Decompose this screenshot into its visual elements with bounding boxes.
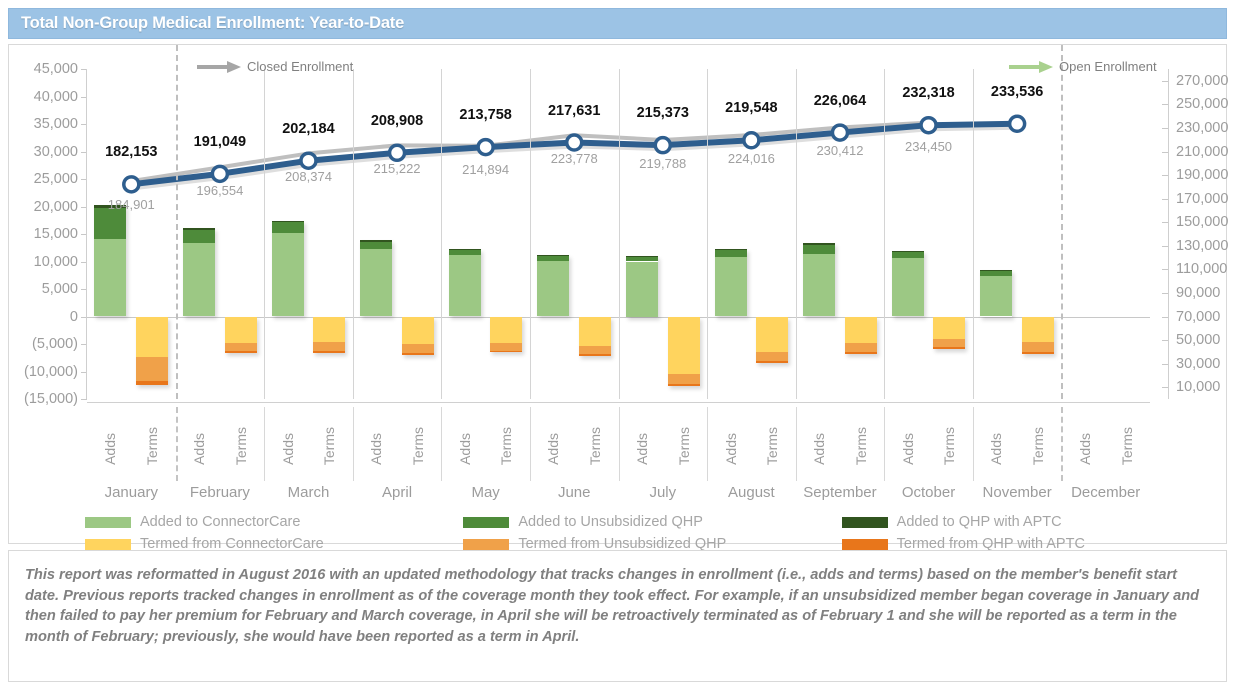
report-date-value-label: 219,548 xyxy=(725,100,777,116)
legend-color-swatch xyxy=(842,539,888,550)
legend-color-swatch xyxy=(842,517,888,528)
terms-bar-segment xyxy=(756,317,788,352)
terms-bar-segment xyxy=(579,354,611,356)
terms-bar-segment xyxy=(1022,317,1054,343)
adds-bar-segment xyxy=(183,243,215,316)
adds-bar[interactable] xyxy=(360,240,392,316)
x-axis-month-label: July xyxy=(649,484,676,501)
report-date-value-label: 208,908 xyxy=(371,113,423,129)
adds-bar-segment xyxy=(715,257,747,317)
adds-bar-segment xyxy=(94,208,126,239)
terms-bar-segment xyxy=(136,317,168,358)
x-axis-month-divider xyxy=(619,407,620,481)
x-axis-terms-label: Terms xyxy=(321,427,337,465)
adds-bar[interactable] xyxy=(537,255,569,317)
terms-bar-segment xyxy=(490,351,522,353)
y-axis-left-line xyxy=(86,69,87,399)
arrow-right-icon xyxy=(1009,61,1053,73)
chart-panel: 45,00040,00035,00030,00025,00020,00015,0… xyxy=(8,44,1227,544)
y-axis-left-tick: (15,000) xyxy=(24,391,87,407)
x-axis-period-divider xyxy=(1061,407,1063,481)
report-date-value-label: 217,631 xyxy=(548,103,600,119)
x-axis-adds-label: Adds xyxy=(988,433,1004,465)
adds-bar[interactable] xyxy=(980,270,1012,317)
legend-item[interactable]: Added to Unsubsidized QHP xyxy=(463,514,841,530)
terms-bar-segment xyxy=(845,343,877,352)
y-axis-left-tick: 15,000 xyxy=(34,226,87,242)
x-axis-month-divider xyxy=(353,407,354,481)
x-axis-month-divider xyxy=(530,407,531,481)
terms-bar-segment xyxy=(668,384,700,386)
x-axis-terms-label: Terms xyxy=(941,427,957,465)
y-axis-left-tick: 25,000 xyxy=(34,171,87,187)
x-axis-month-divider xyxy=(264,407,265,481)
month-divider xyxy=(884,69,885,399)
terms-bar-segment xyxy=(668,374,700,383)
report-date-marker[interactable] xyxy=(478,140,493,155)
methodology-note-box: This report was reformatted in August 20… xyxy=(8,550,1227,682)
x-axis-adds-label: Adds xyxy=(634,433,650,465)
x-axis-period-divider xyxy=(176,407,178,481)
month-divider xyxy=(619,69,620,399)
terms-bar[interactable] xyxy=(668,317,700,386)
legend-item[interactable]: Added to ConnectorCare xyxy=(85,514,463,530)
terms-bar[interactable] xyxy=(579,317,611,356)
y-axis-right-tick: 50,000 xyxy=(1150,332,1220,348)
x-axis-adds-label: Adds xyxy=(280,433,296,465)
adds-bar-segment xyxy=(272,233,304,316)
enrollment-period-divider xyxy=(176,45,178,399)
terms-bar-segment xyxy=(490,317,522,343)
adds-bar-segment xyxy=(449,255,481,316)
plot-area: 45,00040,00035,00030,00025,00020,00015,0… xyxy=(87,69,1150,399)
adds-bar-segment xyxy=(626,262,658,317)
x-axis-month-divider xyxy=(707,407,708,481)
adds-bar[interactable] xyxy=(715,249,747,317)
report-date-marker[interactable] xyxy=(124,177,139,192)
initial-report-value-label: 223,778 xyxy=(551,151,598,166)
report-date-value-label: 233,536 xyxy=(991,84,1043,100)
month-divider xyxy=(707,69,708,399)
adds-bar-segment xyxy=(537,261,569,317)
x-axis-terms-label: Terms xyxy=(587,427,603,465)
y-axis-left-tick: 30,000 xyxy=(34,144,87,160)
terms-bar-segment xyxy=(579,317,611,346)
x-axis-month-label: March xyxy=(288,484,330,501)
legend-item-label: Added to Unsubsidized QHP xyxy=(518,514,703,530)
month-divider xyxy=(264,69,265,399)
adds-bar[interactable] xyxy=(892,251,924,317)
y-axis-left-tick: 45,000 xyxy=(34,61,87,77)
page-title: Total Non-Group Medical Enrollment: Year… xyxy=(9,14,404,33)
adds-bar-segment xyxy=(183,230,215,244)
y-axis-right-tick: 30,000 xyxy=(1150,356,1220,372)
x-axis-month-label: May xyxy=(471,484,499,501)
legend-color-swatch xyxy=(463,539,509,550)
month-divider xyxy=(353,69,354,399)
x-axis-month-label: December xyxy=(1071,484,1140,501)
methodology-note-text: This report was reformatted in August 20… xyxy=(25,565,1210,648)
x-axis-adds-label: Adds xyxy=(102,433,118,465)
report-date-value-label: 232,318 xyxy=(902,85,954,101)
terms-bar-segment xyxy=(579,346,611,354)
terms-bar[interactable] xyxy=(933,317,965,349)
x-axis-month-label: June xyxy=(558,484,591,501)
x-axis-line xyxy=(87,402,1150,403)
terms-bar-segment xyxy=(756,361,788,363)
report-date-marker[interactable] xyxy=(301,153,316,168)
report-date-marker[interactable] xyxy=(567,135,582,150)
y-axis-right-line xyxy=(1168,69,1169,399)
report-date-marker[interactable] xyxy=(921,118,936,133)
x-axis-terms-label: Terms xyxy=(764,427,780,465)
x-axis-adds-label: Adds xyxy=(457,433,473,465)
terms-bar[interactable] xyxy=(490,317,522,353)
initial-report-value-label: 219,788 xyxy=(639,156,686,171)
report-date-value-label: 182,153 xyxy=(105,144,157,160)
adds-bar-segment xyxy=(360,242,392,249)
terms-bar-segment xyxy=(225,351,257,353)
x-axis-month-label: August xyxy=(728,484,775,501)
terms-bar-segment xyxy=(756,352,788,361)
x-axis-month-label: September xyxy=(803,484,876,501)
terms-bar-segment xyxy=(933,339,965,347)
y-axis-left-tick: 35,000 xyxy=(34,116,87,132)
adds-bar-segment xyxy=(715,250,747,257)
terms-bar-segment xyxy=(490,343,522,351)
y-axis-right-tick: 90,000 xyxy=(1150,285,1220,301)
terms-bar[interactable] xyxy=(402,317,434,355)
x-axis-month-label: October xyxy=(902,484,955,501)
terms-bar-segment xyxy=(1022,352,1054,354)
adds-bar[interactable] xyxy=(94,205,126,317)
adds-bar-segment xyxy=(272,222,304,233)
terms-bar-segment xyxy=(136,357,168,381)
closed-enrollment-label: Closed Enrollment xyxy=(247,59,353,74)
x-axis-adds-label: Adds xyxy=(723,433,739,465)
adds-bar-segment xyxy=(980,276,1012,317)
initial-report-value-label: 230,412 xyxy=(816,143,863,158)
report-date-marker[interactable] xyxy=(1010,116,1025,131)
report-date-value-label: 191,049 xyxy=(194,134,246,150)
adds-bar[interactable] xyxy=(449,249,481,316)
x-axis-month-label: February xyxy=(190,484,250,501)
terms-bar[interactable] xyxy=(313,317,345,354)
month-divider xyxy=(973,69,974,399)
x-axis-adds-label: Adds xyxy=(811,433,827,465)
adds-bar[interactable] xyxy=(272,221,304,317)
x-axis-adds-label: Adds xyxy=(900,433,916,465)
x-axis-month-divider xyxy=(973,407,974,481)
enrollment-period-divider xyxy=(1061,45,1063,399)
x-axis-terms-label: Terms xyxy=(1119,427,1135,465)
initial-report-value-label: 224,016 xyxy=(728,151,775,166)
month-divider xyxy=(796,69,797,399)
x-axis-month-divider xyxy=(796,407,797,481)
y-axis-left-tick: (5,000) xyxy=(32,336,87,352)
initial-report-value-label: 184,901 xyxy=(108,197,155,212)
month-divider xyxy=(441,69,442,399)
adds-bar-segment xyxy=(803,254,835,316)
terms-bar-segment xyxy=(402,353,434,355)
terms-bar-segment xyxy=(313,342,345,351)
x-axis-terms-label: Terms xyxy=(853,427,869,465)
legend-item-label: Added to QHP with APTC xyxy=(897,514,1062,530)
x-axis-month-divider xyxy=(441,407,442,481)
adds-bar[interactable] xyxy=(803,243,835,316)
x-axis: AddsTermsJanuaryAddsTermsFebruaryAddsTer… xyxy=(87,403,1150,503)
adds-bar[interactable] xyxy=(626,256,658,317)
report-page: Total Non-Group Medical Enrollment: Year… xyxy=(0,0,1235,690)
terms-bar[interactable] xyxy=(756,317,788,363)
terms-bar[interactable] xyxy=(225,317,257,353)
y-axis-right-tick: 70,000 xyxy=(1150,309,1220,325)
closed-enrollment-annotation: Closed Enrollment xyxy=(197,59,353,74)
y-axis-right-tick: 10,000 xyxy=(1150,379,1220,395)
y-axis-left-tick: 40,000 xyxy=(34,89,87,105)
x-axis-terms-label: Terms xyxy=(410,427,426,465)
x-axis-adds-label: Adds xyxy=(545,433,561,465)
report-date-value-label: 213,758 xyxy=(459,107,511,123)
report-date-marker[interactable] xyxy=(390,145,405,160)
initial-report-value-label: 215,222 xyxy=(374,161,421,176)
terms-bar-segment xyxy=(402,344,434,353)
adds-bar-segment xyxy=(892,258,924,317)
terms-bar-segment xyxy=(668,317,700,375)
open-enrollment-annotation: Open Enrollment xyxy=(1009,59,1157,74)
adds-bar-segment xyxy=(94,239,126,316)
x-axis-terms-label: Terms xyxy=(498,427,514,465)
x-axis-month-label: April xyxy=(382,484,412,501)
terms-bar-segment xyxy=(225,343,257,351)
x-axis-month-label: November xyxy=(983,484,1052,501)
adds-bar-segment xyxy=(360,249,392,317)
report-date-value-label: 215,373 xyxy=(637,105,689,121)
terms-bar-segment xyxy=(933,347,965,349)
legend-item-label: Added to ConnectorCare xyxy=(140,514,300,530)
y-axis-left-tick: 20,000 xyxy=(34,199,87,215)
x-axis-month-divider xyxy=(884,407,885,481)
initial-report-value-label: 208,374 xyxy=(285,169,332,184)
arrow-right-icon xyxy=(197,61,241,73)
terms-bar-segment xyxy=(313,317,345,343)
y-axis-left-tick: 10,000 xyxy=(34,254,87,270)
x-axis-terms-label: Terms xyxy=(676,427,692,465)
terms-bar-segment xyxy=(845,317,877,344)
initial-report-value-label: 214,894 xyxy=(462,162,509,177)
month-divider xyxy=(530,69,531,399)
x-axis-adds-label: Adds xyxy=(1077,433,1093,465)
initial-report-value-label: 234,450 xyxy=(905,139,952,154)
x-axis-terms-label: Terms xyxy=(144,427,160,465)
adds-bar-segment xyxy=(803,245,835,254)
y-axis-left-tickmark xyxy=(81,399,87,400)
terms-bar-segment xyxy=(313,351,345,353)
x-axis-month-label: January xyxy=(105,484,158,501)
report-date-marker[interactable] xyxy=(744,133,759,148)
terms-bar[interactable] xyxy=(845,317,877,355)
x-axis-terms-label: Terms xyxy=(233,427,249,465)
report-title-bar: Total Non-Group Medical Enrollment: Year… xyxy=(8,8,1227,39)
y-axis-left-tick: (10,000) xyxy=(24,364,87,380)
terms-bar-segment xyxy=(845,352,877,354)
x-axis-terms-label: Terms xyxy=(1030,427,1046,465)
legend-color-swatch xyxy=(85,539,131,550)
report-date-marker[interactable] xyxy=(655,138,670,153)
report-date-marker[interactable] xyxy=(832,125,847,140)
legend-color-swatch xyxy=(85,517,131,528)
legend-item[interactable]: Added to QHP with APTC xyxy=(842,514,1220,530)
report-date-value-label: 226,064 xyxy=(814,93,866,109)
terms-bar-segment xyxy=(933,317,965,340)
terms-bar-segment xyxy=(1022,342,1054,351)
report-date-value-label: 202,184 xyxy=(282,121,334,137)
terms-bar[interactable] xyxy=(136,317,168,386)
terms-bar-segment xyxy=(136,381,168,385)
open-enrollment-label: Open Enrollment xyxy=(1059,59,1157,74)
x-axis-adds-label: Adds xyxy=(368,433,384,465)
terms-bar-segment xyxy=(402,317,434,345)
x-axis-adds-label: Adds xyxy=(191,433,207,465)
terms-bar-segment xyxy=(225,317,257,343)
terms-bar[interactable] xyxy=(1022,317,1054,354)
report-date-marker[interactable] xyxy=(212,166,227,181)
initial-report-value-label: 196,554 xyxy=(196,183,243,198)
legend-color-swatch xyxy=(463,517,509,528)
adds-bar[interactable] xyxy=(183,228,215,317)
